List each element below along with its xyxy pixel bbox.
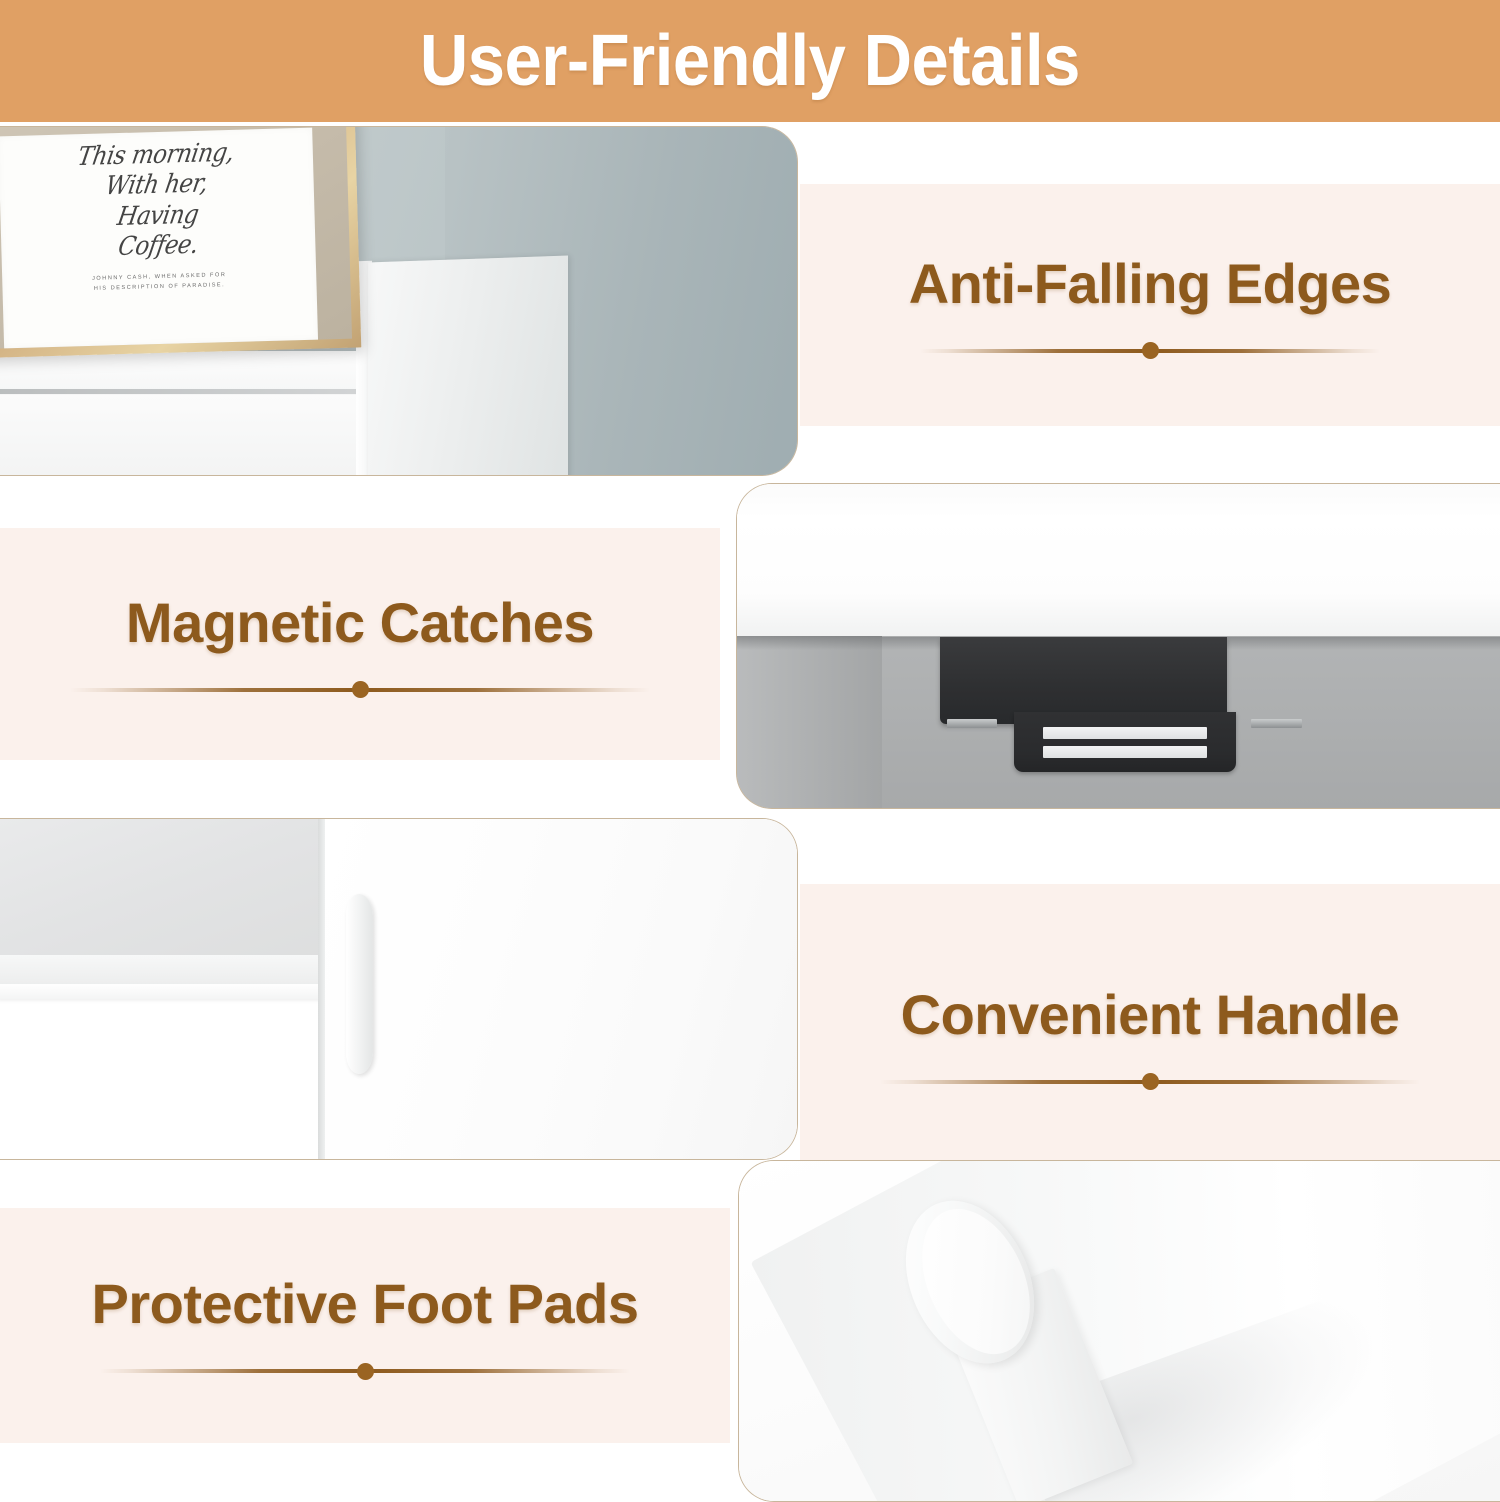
magnetic-catch-slot-bottom — [1043, 746, 1207, 758]
divider-anti-falling-edges — [920, 342, 1380, 360]
magnetic-catch-tongue — [1014, 712, 1236, 772]
art-script-line-4: Coffee. — [116, 228, 201, 264]
feature-image-anti-falling-edges: This morning, With her, Having Coffee. J… — [0, 126, 798, 476]
door-arc-handle — [346, 893, 373, 1074]
magnetic-catch-body — [940, 637, 1227, 724]
divider-dot-icon — [357, 1363, 374, 1380]
divider-protective-foot-pads — [100, 1362, 630, 1380]
feature-text-anti-falling-edges: Anti-Falling Edges — [800, 184, 1500, 426]
door-gap-line — [318, 819, 325, 1159]
divider-convenient-handle — [880, 1073, 1420, 1091]
feature-heading-anti-falling-edges: Anti-Falling Edges — [909, 251, 1392, 316]
art-print-sheet: This morning, With her, Having Coffee. J… — [0, 128, 318, 349]
divider-magnetic-catches — [70, 681, 650, 699]
feature-heading-convenient-handle: Convenient Handle — [901, 982, 1400, 1047]
feature-image-convenient-handle — [0, 818, 798, 1160]
cabinet-door — [325, 819, 797, 1159]
gold-picture-frame: This morning, With her, Having Coffee. J… — [0, 126, 361, 359]
anti-falling-edge-panel — [368, 256, 568, 476]
feature-text-magnetic-catches: Magnetic Catches — [0, 528, 720, 760]
frame-mat: This morning, With her, Having Coffee. J… — [0, 126, 352, 349]
divider-dot-icon — [1142, 342, 1159, 359]
feature-image-protective-foot-pads — [738, 1160, 1500, 1502]
cabinet-drawer-gap — [0, 389, 368, 394]
divider-dot-icon — [352, 681, 369, 698]
feature-image-magnetic-catches — [736, 483, 1500, 809]
feature-text-protective-foot-pads: Protective Foot Pads — [0, 1208, 730, 1443]
page-title: User-Friendly Details — [420, 25, 1080, 97]
divider-dot-icon — [1142, 1073, 1159, 1090]
cabinet-interior-shade — [737, 636, 882, 808]
magnetic-catch-screw-left — [947, 719, 997, 727]
feature-heading-protective-foot-pads: Protective Foot Pads — [91, 1271, 638, 1336]
shelf-front-edge — [0, 984, 322, 999]
magnetic-catch-slot-top — [1043, 727, 1207, 739]
feature-heading-magnetic-catches: Magnetic Catches — [126, 590, 594, 655]
page-header-band: User-Friendly Details — [0, 0, 1500, 122]
magnetic-catch-screw-right — [1251, 719, 1301, 727]
feature-text-convenient-handle: Convenient Handle — [800, 884, 1500, 1188]
cabinet-drawer-front — [0, 395, 368, 476]
cabinet-underside-panel — [737, 484, 1500, 636]
shelf-surface — [0, 955, 318, 986]
